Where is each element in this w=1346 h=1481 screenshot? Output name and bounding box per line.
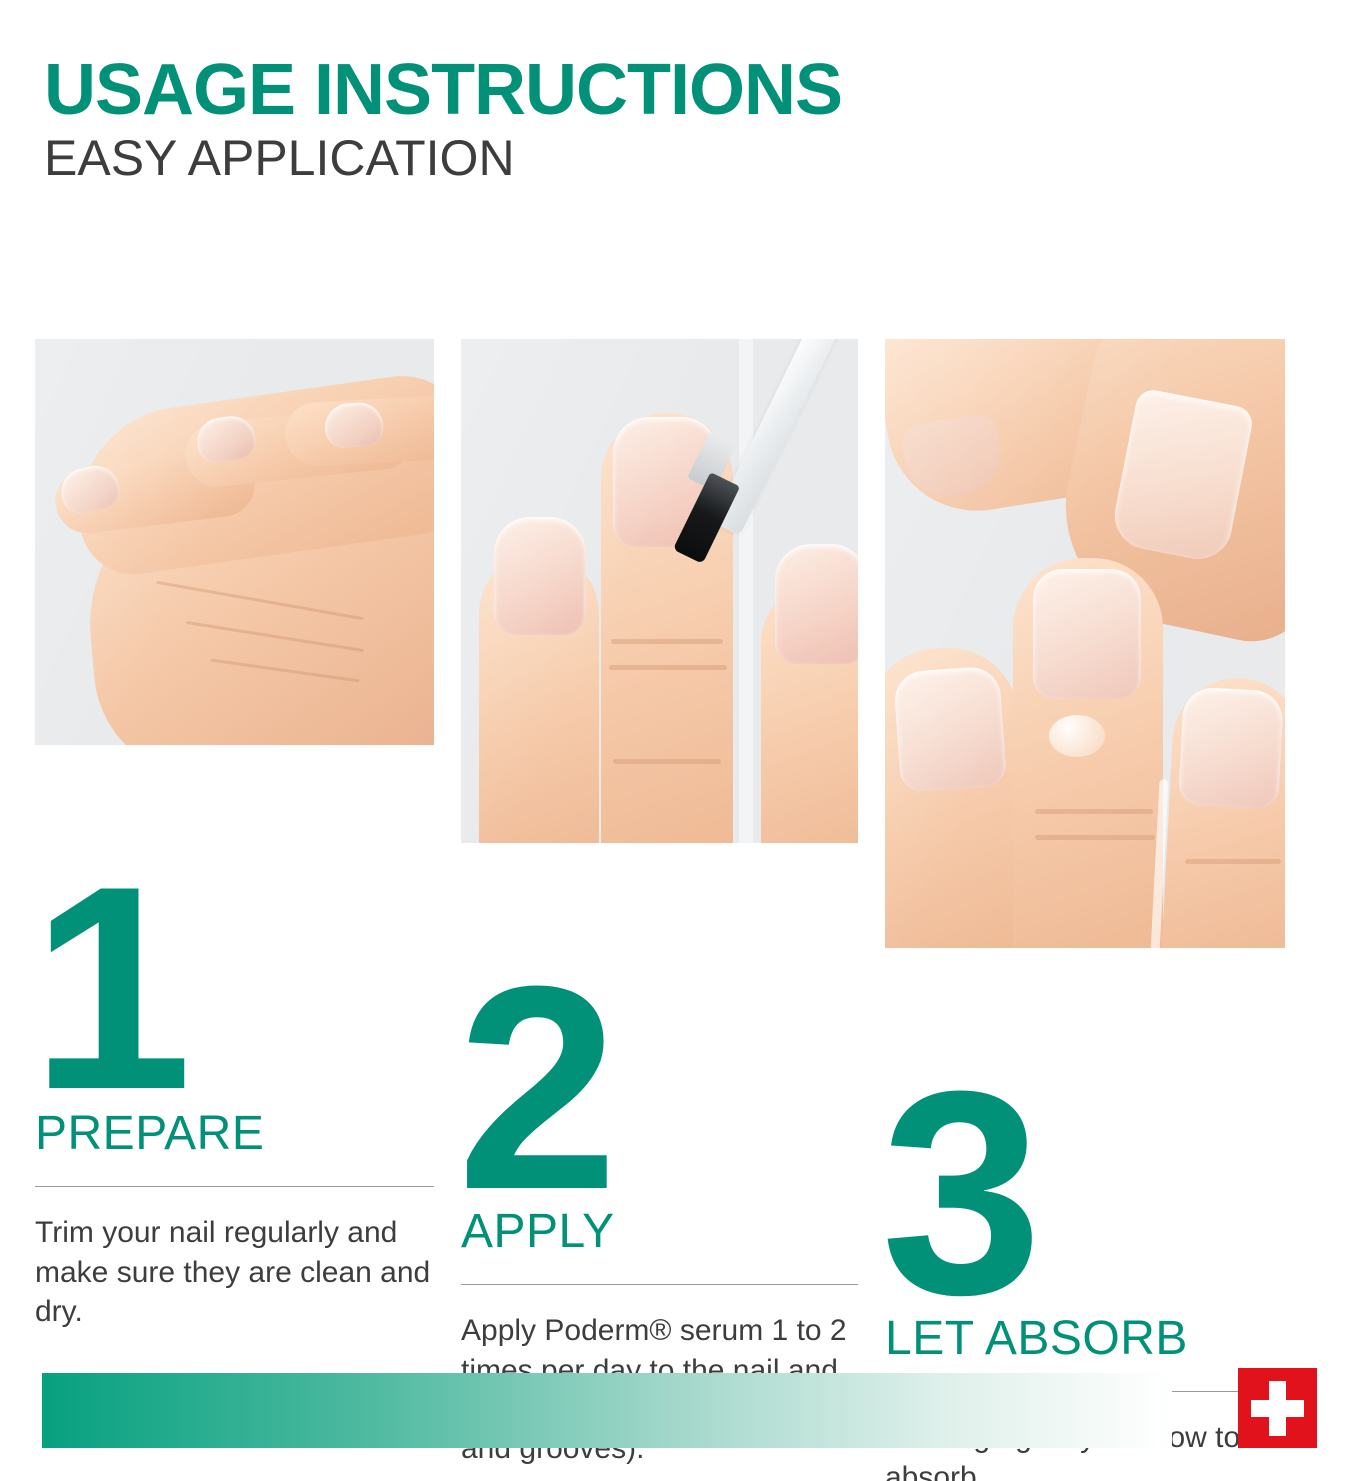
- step-card-1: 1 PREPARE Trim your nail regularly and m…: [35, 339, 434, 745]
- step-card-3: 3 LET ABSORB Massage gently or allow to …: [885, 339, 1285, 948]
- step-number-2: 2: [457, 984, 618, 1193]
- footer-gradient-bar: [42, 1373, 1172, 1448]
- step-3-title: LET ABSORB: [885, 1314, 1285, 1364]
- knuckle-crease: [611, 639, 723, 644]
- knuckle-crease: [613, 759, 721, 764]
- step-number-3: 3: [881, 1089, 1042, 1298]
- swiss-flag-icon: [1238, 1368, 1317, 1448]
- fingernail-shape: [494, 517, 586, 635]
- step-1-divider: [35, 1186, 434, 1187]
- step-1-title: PREPARE: [35, 1109, 434, 1159]
- page-header: USAGE INSTRUCTIONS EASY APPLICATION: [44, 56, 842, 188]
- step-1-body: Trim your nail regularly and make sure t…: [35, 1213, 434, 1331]
- fingernail-shape: [324, 401, 385, 449]
- step-2-divider: [461, 1284, 858, 1285]
- swiss-cross-vertical: [1269, 1381, 1286, 1436]
- serum-droplet: [1049, 715, 1105, 757]
- usage-instructions-page: USAGE INSTRUCTIONS EASY APPLICATION 1 PR…: [0, 0, 1346, 1481]
- step-3-photo: [885, 339, 1285, 948]
- fingernail-shape: [893, 665, 1007, 792]
- fingernail-shape: [775, 544, 858, 664]
- finger-gap: [739, 339, 753, 843]
- step-number-1: 1: [31, 884, 192, 1093]
- knuckle-crease: [1035, 809, 1153, 814]
- fingernail-shape: [1178, 686, 1284, 809]
- step-2-title: APPLY: [461, 1207, 858, 1257]
- page-title: USAGE INSTRUCTIONS: [44, 56, 842, 124]
- step-1-photo: [35, 339, 434, 745]
- knuckle-crease: [1035, 835, 1155, 840]
- step-1-text-block: PREPARE Trim your nail regularly and mak…: [35, 1109, 434, 1331]
- step-card-2: 2 APPLY Apply Poderm® serum 1 to 2 times…: [461, 339, 858, 843]
- applicator-brush-handle: [713, 339, 841, 536]
- knuckle-crease: [1185, 859, 1281, 864]
- knuckle-crease: [609, 665, 727, 670]
- page-subtitle: EASY APPLICATION: [44, 130, 842, 188]
- step-2-photo: [461, 339, 858, 843]
- fingernail-shape: [1033, 569, 1141, 699]
